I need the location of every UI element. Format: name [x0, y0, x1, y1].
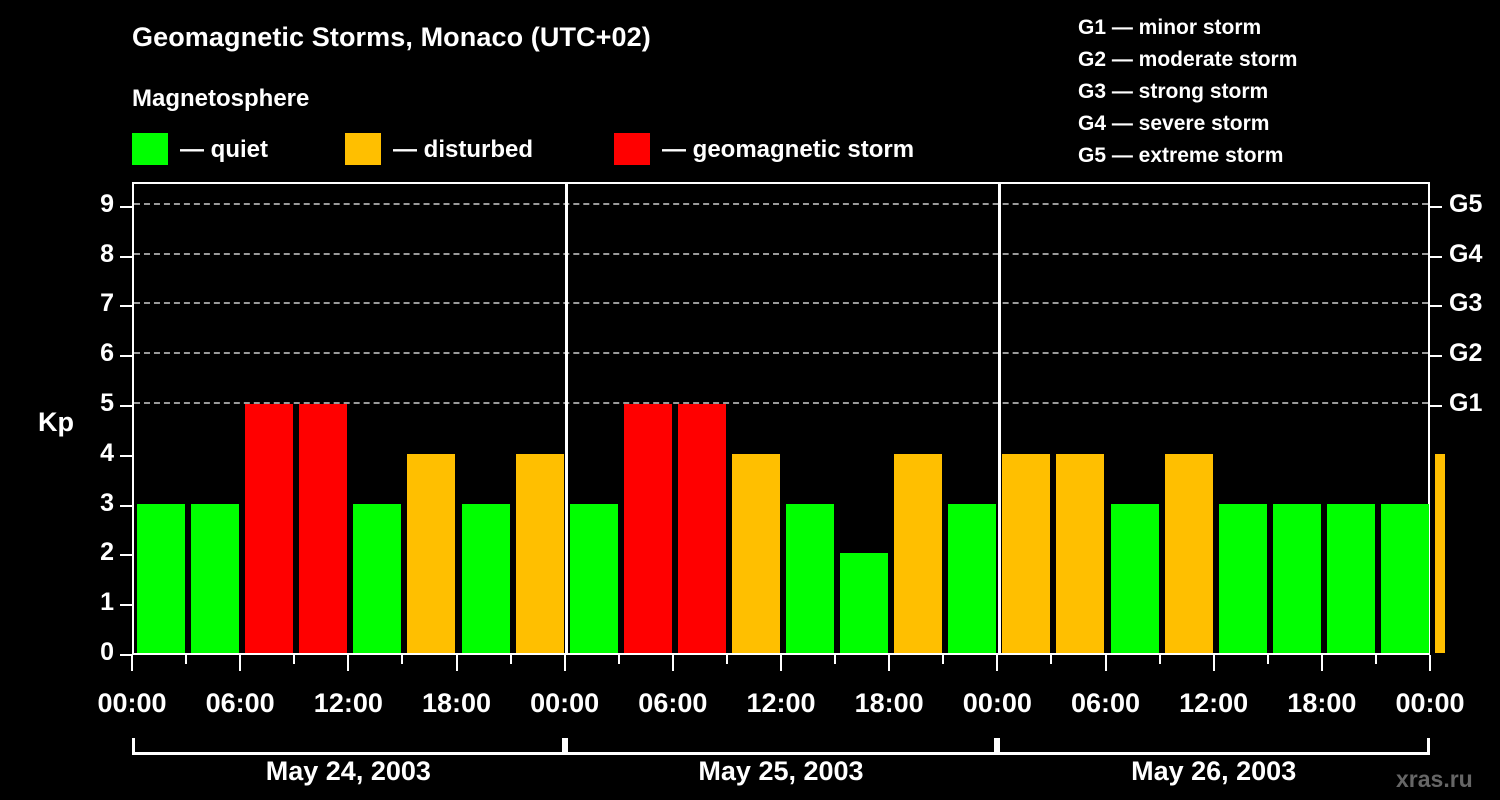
g-scale-line-5: G5 — extreme storm — [1078, 140, 1297, 172]
bar — [1056, 454, 1104, 653]
day-bracket-1 — [132, 738, 565, 754]
g-tick-label-G2: G2 — [1449, 339, 1482, 368]
y-tick-6 — [120, 355, 132, 357]
bracket-tick-left — [565, 738, 568, 755]
g-scale-legend: G1 — minor stormG2 — moderate stormG3 — … — [1078, 12, 1297, 172]
x-tick-major — [996, 655, 998, 671]
date-label-3: May 26, 2003 — [997, 756, 1430, 787]
bar — [1002, 454, 1050, 653]
gridline-kp-8 — [134, 253, 1428, 255]
x-tick-major — [131, 655, 133, 671]
g-tick-label-G1: G1 — [1449, 389, 1482, 418]
legend-swatch-quiet — [132, 133, 168, 165]
bar — [786, 504, 834, 653]
bar — [894, 454, 942, 653]
bar — [191, 504, 239, 653]
bracket-line — [997, 752, 1430, 755]
chart-subtitle: Magnetosphere — [132, 85, 309, 113]
y-tick-1 — [120, 604, 132, 606]
g-tick-label-G5: G5 — [1449, 190, 1482, 219]
page-title: Geomagnetic Storms, Monaco (UTC+02) — [132, 22, 651, 53]
x-tick-major — [888, 655, 890, 671]
g-tick-G2 — [1430, 355, 1442, 357]
x-tick-label: 12:00 — [721, 688, 841, 719]
chart-root: Geomagnetic Storms, Monaco (UTC+02) Magn… — [0, 0, 1500, 800]
x-tick-label: 12:00 — [1154, 688, 1274, 719]
g-tick-G5 — [1430, 206, 1442, 208]
day-bracket-3 — [997, 738, 1430, 754]
x-tick-minor — [1050, 655, 1052, 664]
bar — [299, 404, 347, 653]
bar — [1273, 504, 1321, 653]
x-tick-major — [239, 655, 241, 671]
legend-swatch-geomagnetic-storm — [614, 133, 650, 165]
plot-area — [132, 182, 1430, 655]
x-tick-major — [1105, 655, 1107, 671]
bar — [624, 404, 672, 653]
bar — [948, 504, 996, 653]
x-tick-label: 18:00 — [829, 688, 949, 719]
x-tick-minor — [618, 655, 620, 664]
y-tick-label-4: 4 — [74, 439, 114, 468]
x-tick-major — [672, 655, 674, 671]
y-tick-label-6: 6 — [74, 339, 114, 368]
y-tick-label-2: 2 — [74, 538, 114, 567]
x-tick-minor — [1159, 655, 1161, 664]
y-tick-8 — [120, 256, 132, 258]
g-scale-line-2: G2 — moderate storm — [1078, 44, 1297, 76]
g-tick-G3 — [1430, 305, 1442, 307]
bar — [1111, 504, 1159, 653]
y-tick-7 — [120, 305, 132, 307]
bar — [1327, 504, 1375, 653]
y-tick-5 — [120, 405, 132, 407]
bar — [516, 454, 564, 653]
x-tick-label: 06:00 — [613, 688, 733, 719]
bar — [732, 454, 780, 653]
x-tick-minor — [185, 655, 187, 664]
x-tick-minor — [293, 655, 295, 664]
g-tick-label-G4: G4 — [1449, 240, 1482, 269]
legend-swatch-disturbed — [345, 133, 381, 165]
y-tick-label-8: 8 — [74, 240, 114, 269]
y-tick-2 — [120, 554, 132, 556]
x-tick-major — [1213, 655, 1215, 671]
bracket-line — [565, 752, 998, 755]
bar — [1381, 504, 1429, 653]
bracket-tick-right — [1427, 738, 1430, 755]
day-separator-1 — [565, 184, 568, 653]
g-tick-label-G3: G3 — [1449, 289, 1482, 318]
bar — [407, 454, 455, 653]
g-scale-line-3: G3 — strong storm — [1078, 76, 1297, 108]
y-tick-label-7: 7 — [74, 289, 114, 318]
x-tick-minor — [1267, 655, 1269, 664]
x-tick-label: 18:00 — [397, 688, 517, 719]
x-tick-label: 00:00 — [937, 688, 1057, 719]
y-tick-3 — [120, 505, 132, 507]
bar — [1165, 454, 1213, 653]
y-tick-4 — [120, 455, 132, 457]
x-tick-minor — [834, 655, 836, 664]
bracket-tick-left — [997, 738, 1000, 755]
gridline-kp-9 — [134, 203, 1428, 205]
x-tick-label: 00:00 — [1370, 688, 1490, 719]
date-label-1: May 24, 2003 — [132, 756, 565, 787]
y-tick-label-1: 1 — [74, 588, 114, 617]
x-tick-label: 18:00 — [1262, 688, 1382, 719]
bar — [678, 404, 726, 653]
x-tick-major — [456, 655, 458, 671]
x-tick-minor — [401, 655, 403, 664]
y-tick-label-9: 9 — [74, 190, 114, 219]
bar — [840, 553, 888, 653]
y-axis-title: Kp — [38, 407, 74, 438]
legend-label-geomagnetic-storm: — geomagnetic storm — [662, 136, 914, 164]
gridline-kp-6 — [134, 352, 1428, 354]
x-tick-major — [564, 655, 566, 671]
x-tick-major — [1429, 655, 1431, 671]
y-tick-9 — [120, 206, 132, 208]
watermark: xras.ru — [1396, 766, 1473, 793]
bar — [353, 504, 401, 653]
bar — [245, 404, 293, 653]
x-tick-major — [347, 655, 349, 671]
y-tick-label-5: 5 — [74, 389, 114, 418]
y-tick-label-0: 0 — [74, 638, 114, 667]
legend-label-disturbed: — disturbed — [393, 136, 533, 164]
bracket-line — [132, 752, 565, 755]
x-tick-label: 06:00 — [1046, 688, 1166, 719]
g-scale-line-1: G1 — minor storm — [1078, 12, 1297, 44]
bar — [1219, 504, 1267, 653]
day-bracket-2 — [565, 738, 998, 754]
x-tick-major — [780, 655, 782, 671]
gridline-kp-7 — [134, 302, 1428, 304]
day-separator-2 — [998, 184, 1001, 653]
x-tick-minor — [510, 655, 512, 664]
bracket-tick-left — [132, 738, 135, 755]
x-tick-label: 06:00 — [180, 688, 300, 719]
x-tick-label: 00:00 — [505, 688, 625, 719]
g-tick-G4 — [1430, 256, 1442, 258]
x-tick-major — [1321, 655, 1323, 671]
bar — [1435, 454, 1445, 653]
x-tick-label: 00:00 — [72, 688, 192, 719]
date-label-2: May 25, 2003 — [565, 756, 998, 787]
y-tick-label-3: 3 — [74, 489, 114, 518]
x-tick-label: 12:00 — [288, 688, 408, 719]
bar — [570, 504, 618, 653]
bar — [137, 504, 185, 653]
g-scale-line-4: G4 — severe storm — [1078, 108, 1297, 140]
g-tick-G1 — [1430, 405, 1442, 407]
x-tick-minor — [1375, 655, 1377, 664]
bar — [462, 504, 510, 653]
x-tick-minor — [942, 655, 944, 664]
x-tick-minor — [726, 655, 728, 664]
legend-label-quiet: — quiet — [180, 136, 268, 164]
